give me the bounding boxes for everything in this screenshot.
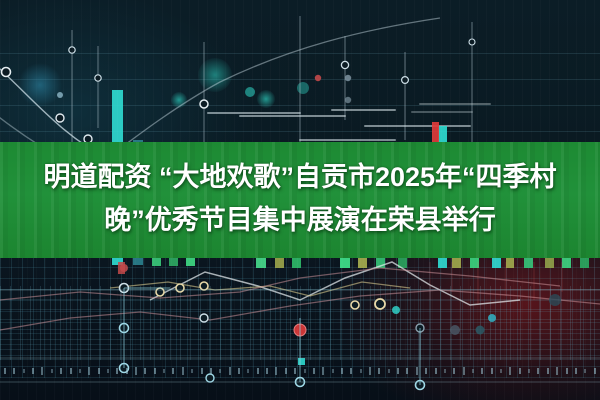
- axis-tick: [266, 368, 268, 374]
- axis-tick: [201, 368, 203, 374]
- axis-tick: [360, 369, 362, 373]
- axis-tick: [425, 368, 427, 374]
- axis-tick: [556, 367, 558, 375]
- axis-tick: [528, 369, 530, 373]
- axis-tick: [13, 368, 15, 374]
- axis-tick: [481, 368, 483, 374]
- axis-tick: [547, 368, 549, 374]
- axis-tick: [406, 368, 408, 374]
- axis-tick: [491, 368, 493, 374]
- axis-tick: [172, 368, 174, 374]
- axis-tick: [116, 368, 118, 374]
- axis-tick: [126, 368, 128, 374]
- axis-tick: [388, 369, 390, 373]
- axis-tick: [322, 367, 324, 375]
- axis-tick: [369, 367, 371, 375]
- axis-tick: [219, 369, 221, 373]
- headline-line-2: 晚”优秀节目集中展演在荣县举行: [0, 199, 600, 242]
- axis-tick: [51, 369, 53, 373]
- axis-tick: [332, 369, 334, 373]
- axis-tick-row: [4, 366, 596, 375]
- axis-tick: [275, 367, 277, 375]
- axis-tick: [238, 368, 240, 374]
- indicator-rules: [208, 104, 490, 140]
- axis-tick: [79, 369, 81, 373]
- axis-tick: [163, 369, 165, 373]
- axis-tick: [566, 368, 568, 374]
- axis-tick: [416, 367, 418, 375]
- axis-tick: [453, 368, 455, 374]
- axis-tick: [350, 368, 352, 374]
- axis-tick: [60, 368, 62, 374]
- axis-tick: [41, 367, 43, 375]
- axis-tick: [191, 369, 193, 373]
- upper-drop-lines: [72, 16, 472, 152]
- axis-tick: [70, 368, 72, 374]
- axis-tick: [23, 369, 25, 373]
- axis-tick: [285, 368, 287, 374]
- axis-tick: [594, 368, 596, 374]
- axis-tick: [313, 368, 315, 374]
- headline-line-1: 明道配资 “大地欢歌”自贡市2025年“四季村: [0, 156, 600, 199]
- axis-tick: [4, 368, 6, 374]
- axis-tick: [500, 369, 502, 373]
- axis-tick: [378, 368, 380, 374]
- axis-tick: [247, 369, 249, 373]
- axis-tick: [257, 368, 259, 374]
- axis-tick: [435, 368, 437, 374]
- axis-tick: [182, 367, 184, 375]
- banner-image: 明道配资 “大地欢歌”自贡市2025年“四季村 晚”优秀节目集中展演在荣县举行: [0, 0, 600, 400]
- page-title: 明道配资 “大地欢歌”自贡市2025年“四季村 晚”优秀节目集中展演在荣县举行: [0, 156, 600, 242]
- axis-tick: [294, 368, 296, 374]
- axis-tick: [397, 368, 399, 374]
- axis-tick: [341, 368, 343, 374]
- glow-blobs: [18, 58, 309, 108]
- lower-line-series-olive: [110, 282, 410, 296]
- axis-tick: [135, 367, 137, 375]
- axis-tick: [444, 369, 446, 373]
- axis-tick: [463, 367, 465, 375]
- axis-tick: [32, 368, 34, 374]
- axis-tick: [537, 368, 539, 374]
- axis-tick: [304, 369, 306, 373]
- axis-tick: [88, 367, 90, 375]
- axis-tick: [229, 367, 231, 375]
- axis-tick: [584, 369, 586, 373]
- axis-tick: [107, 369, 109, 373]
- axis-tick: [144, 368, 146, 374]
- axis-tick: [472, 369, 474, 373]
- axis-tick: [98, 368, 100, 374]
- axis-tick: [509, 367, 511, 375]
- axis-tick: [210, 368, 212, 374]
- axis-tick: [519, 368, 521, 374]
- axis-tick: [575, 368, 577, 374]
- axis-tick: [154, 368, 156, 374]
